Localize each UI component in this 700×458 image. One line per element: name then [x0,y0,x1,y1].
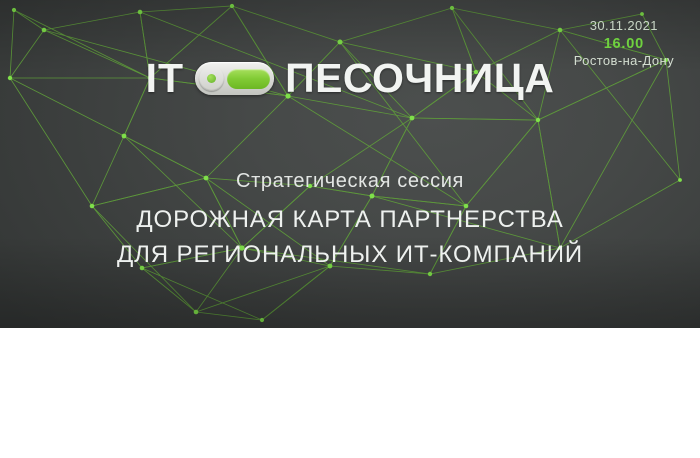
logo-prefix: IT [146,58,184,99]
toggle-switch-on-icon [195,62,274,95]
event-heading-line-1: ДОРОЖНАЯ КАРТА ПАРТНЕРСТВА [0,203,700,238]
event-time: 16.00 [574,35,674,54]
toggle-track-fill [227,69,270,89]
event-logo: IT ПЕСОЧНИЦА [0,58,700,99]
event-date: 30.11.2021 [574,18,674,35]
event-heading: ДОРОЖНАЯ КАРТА ПАРТНЕРСТВА ДЛЯ РЕГИОНАЛЬ… [0,203,700,273]
hero-section: 30.11.2021 16.00 Ростов-на-Дону IT ПЕСОЧ… [0,0,700,328]
toggle-knob-dot [207,74,216,83]
event-heading-line-2: ДЛЯ РЕГИОНАЛЬНЫХ ИТ-КОМПАНИЙ [0,238,700,273]
logo-word: ПЕСОЧНИЦА [285,58,554,99]
toggle-knob [199,66,224,91]
event-subtitle: Стратегическая сессия [0,170,700,193]
event-poster: 30.11.2021 16.00 Ростов-на-Дону IT ПЕСОЧ… [0,0,700,458]
footer-section: организаторы: оператор: [0,328,700,458]
